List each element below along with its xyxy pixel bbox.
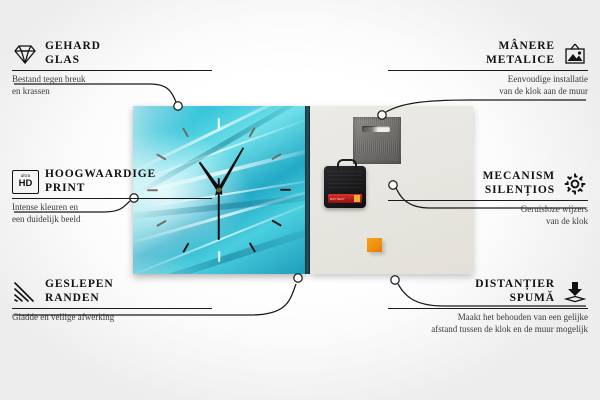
ultra-hd-icon: ultra HD (12, 170, 38, 194)
ultra-hd-main-label: HD (19, 179, 33, 189)
feature-title-line2: METALICE (486, 54, 555, 66)
clock-mechanism: BATTERY (324, 166, 366, 208)
feature-desc-line2: een duidelijk beeld (12, 214, 80, 224)
feature-title-line1: GESLEPEN (45, 278, 114, 290)
hanger-slot (362, 126, 390, 132)
feature-title-line2: RANDEN (45, 292, 100, 304)
feature-desc-line1: Gladde en veilige afwerking (12, 312, 114, 322)
feature-divider (388, 200, 588, 201)
feature-title-line1: MÂNERE (498, 40, 555, 52)
feature-manere-metalice: MÂNERE METALICE Eenvoudige installatie v… (388, 40, 588, 97)
infographic-canvas: BATTERY (0, 0, 600, 400)
feature-title-line1: MECANISM (483, 170, 555, 182)
feature-title-line2: GLAS (45, 54, 80, 66)
feature-title-line2: SILENȚIOS (485, 184, 555, 196)
feature-desc-line1: Eenvoudige installatie (508, 74, 588, 84)
feature-title-line1: GEHARD (45, 40, 101, 52)
mechanism-hanging-loop (337, 159, 357, 171)
mechanism-housing (328, 171, 362, 191)
feature-desc-line2: van de klok (546, 216, 588, 226)
feature-mecanism-silentios: MECANISM SILENȚIOS Geruisloze wijzers va… (388, 170, 588, 227)
diamond-icon (12, 42, 38, 66)
metal-hanger-plate (353, 117, 401, 164)
feature-distantier-spuma: DISTANȚIER SPUMĂ Maakt het behouden van … (388, 278, 588, 335)
clock-second-hand (218, 190, 220, 252)
feature-desc-line1: Intense kleuren en (12, 202, 78, 212)
foam-spacer (367, 238, 382, 252)
feature-geslepen-randen: GESLEPEN RANDEN Gladde en veilige afwerk… (12, 278, 212, 324)
battery-positive-terminal (354, 195, 360, 202)
feature-title-line1: DISTANȚIER (475, 278, 555, 290)
feature-desc-line2: en krassen (12, 86, 50, 96)
feature-divider (12, 308, 212, 309)
feature-desc-line2: van de klok aan de muur (499, 86, 588, 96)
feature-desc-line1: Geruisloze wijzers (521, 204, 588, 214)
battery-label: BATTERY (330, 197, 345, 201)
feature-divider (388, 70, 588, 71)
feature-title-line2: PRINT (45, 182, 85, 194)
feature-divider (12, 198, 212, 199)
feature-title-line2: SPUMĂ (510, 292, 555, 304)
feature-gehard-glas: GEHARD GLAS Bestand tegen breuk en krass… (12, 40, 212, 97)
feature-desc-line1: Bestand tegen breuk (12, 74, 85, 84)
polished-edge-lines-icon (12, 280, 38, 304)
feature-desc-line1: Maakt het behouden van een gelijke (458, 312, 588, 322)
gear-icon (562, 172, 588, 196)
clock-minute-hand (219, 142, 250, 192)
down-arrow-pad-icon (562, 280, 588, 304)
feature-divider (12, 70, 212, 71)
feature-divider (388, 308, 588, 309)
feature-title-line1: HOOGWAARDIGE (45, 168, 156, 180)
clock-center-pin (217, 188, 222, 193)
battery: BATTERY (328, 194, 362, 203)
feature-hoogwaardige-print: ultra HD HOOGWAARDIGE PRINT Intense kleu… (12, 168, 212, 225)
feature-desc-line2: afstand tussen de klok en de muur mogeli… (431, 324, 588, 334)
picture-frame-icon (562, 42, 588, 66)
